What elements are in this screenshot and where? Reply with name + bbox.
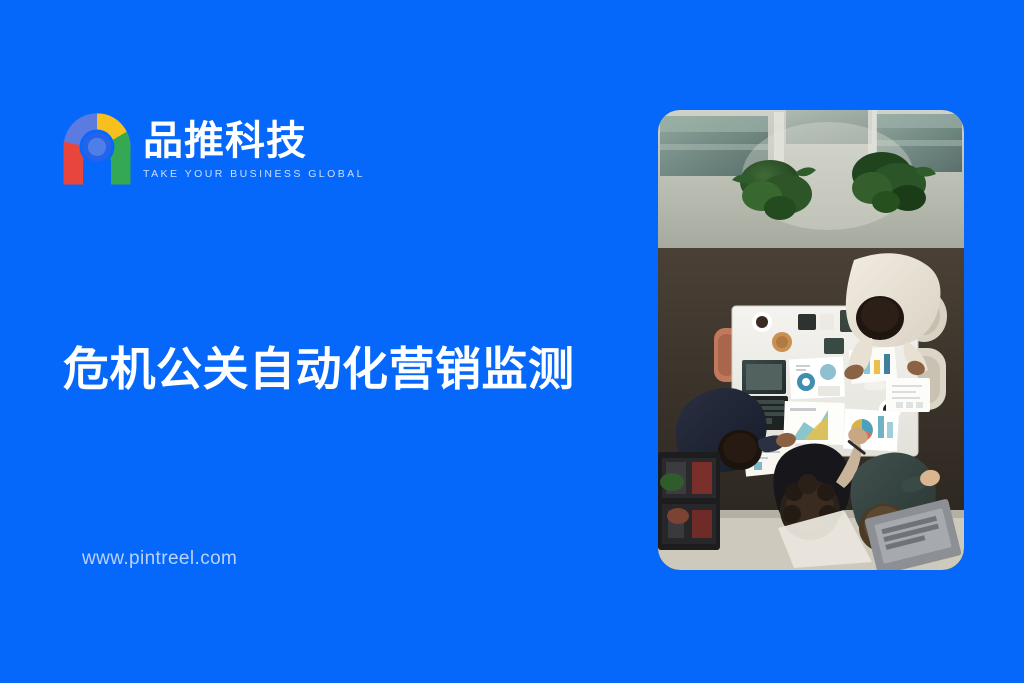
hero-photo [658,110,964,570]
logo-wordmark: 品推科技 TAKE YOUR BUSINESS GLOBAL [143,118,365,179]
logo-inner-dot [88,138,106,156]
page-title: 危机公关自动化营销监测 [63,342,663,396]
logo-tagline: TAKE YOUR BUSINESS GLOBAL [143,168,365,180]
pintreel-logo-icon [62,112,132,186]
brand-logo[interactable]: 品推科技 TAKE YOUR BUSINESS GLOBAL [62,112,365,186]
slide-canvas: 品推科技 TAKE YOUR BUSINESS GLOBAL 危机公关自动化营销… [0,0,1024,683]
logo-company-name: 品推科技 [143,120,365,163]
office-meeting-illustration [658,110,964,570]
office-cabinet [658,452,720,550]
website-url[interactable]: www.pintreel.com [82,548,237,570]
